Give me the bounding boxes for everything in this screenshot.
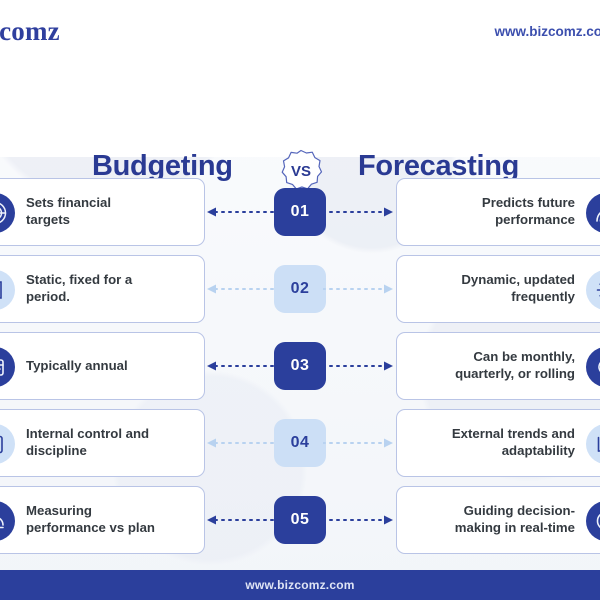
left-card-text: Internal control and discipline	[26, 426, 149, 460]
footer-website-url: www.bizcomz.com	[245, 578, 354, 592]
comparison-row: Typically annual 03 Can be monthly, quar…	[0, 332, 600, 400]
arrow-to-left	[207, 282, 277, 296]
comparison-row: Static, fixed for a period. 02 Dynamic, …	[0, 255, 600, 323]
left-card[interactable]: Static, fixed for a period.	[0, 255, 205, 323]
arrow-to-right	[323, 359, 393, 373]
right-card[interactable]: Predicts future performance	[396, 178, 600, 246]
step-number-badge: 03	[274, 342, 326, 390]
left-card-text: Measuring performance vs plan	[26, 503, 155, 537]
clipboard-lock-icon	[0, 424, 15, 464]
title-band: Budgeting VS Forecasting	[0, 62, 600, 157]
arrow-to-left	[207, 513, 277, 527]
arrow-to-left	[207, 205, 277, 219]
row-connector: 02	[205, 255, 396, 323]
top-bar: bizcomz www.bizcomz.com	[0, 0, 600, 62]
arrow-to-right	[323, 205, 393, 219]
document-lines-icon	[0, 270, 15, 310]
right-card-text: Can be monthly, quarterly, or rolling	[455, 349, 575, 383]
left-card-text: Static, fixed for a period.	[26, 272, 132, 306]
comparison-row: Sets financial targets 01 Predicts futur…	[0, 178, 600, 246]
arrow-to-left	[207, 359, 277, 373]
header-website-url: www.bizcomz.com	[494, 24, 600, 39]
comparison-row: Internal control and discipline 04 Exter…	[0, 409, 600, 477]
left-card[interactable]: Internal control and discipline	[0, 409, 205, 477]
arrow-to-left	[207, 436, 277, 450]
left-card-text: Sets financial targets	[26, 195, 111, 229]
row-connector: 04	[205, 409, 396, 477]
target-fingerprint-icon	[0, 193, 15, 233]
calendar-year-icon	[0, 347, 15, 387]
calendar-cycle-icon	[586, 347, 600, 387]
right-card[interactable]: Can be monthly, quarterly, or rolling	[396, 332, 600, 400]
right-card[interactable]: Guiding decision- making in real-time	[396, 486, 600, 554]
arrow-to-right	[323, 282, 393, 296]
arrow-to-right	[323, 436, 393, 450]
gear-refresh-icon	[586, 270, 600, 310]
right-card-text: Guiding decision- making in real-time	[455, 503, 575, 537]
comparison-row: Measuring performance vs plan 05 Guiding…	[0, 486, 600, 554]
left-card[interactable]: Sets financial targets	[0, 178, 205, 246]
right-card-text: Dynamic, updated frequently	[461, 272, 575, 306]
infographic-canvas: bizcomz www.bizcomz.com Budgeting VS For…	[0, 0, 600, 600]
arrow-to-right	[323, 513, 393, 527]
left-card[interactable]: Typically annual	[0, 332, 205, 400]
left-card-text: Typically annual	[26, 358, 128, 375]
right-card-text: External trends and adaptability	[452, 426, 575, 460]
right-card-text: Predicts future performance	[482, 195, 575, 229]
row-connector: 03	[205, 332, 396, 400]
left-card[interactable]: Measuring performance vs plan	[0, 486, 205, 554]
step-number-badge: 01	[274, 188, 326, 236]
right-card[interactable]: External trends and adaptability	[396, 409, 600, 477]
trend-chart-icon	[586, 424, 600, 464]
footer-bar: www.bizcomz.com	[0, 570, 600, 600]
row-connector: 01	[205, 178, 396, 246]
radar-forecast-icon	[586, 193, 600, 233]
step-number-badge: 04	[274, 419, 326, 467]
right-card[interactable]: Dynamic, updated frequently	[396, 255, 600, 323]
step-number-badge: 05	[274, 496, 326, 544]
brand-logo: bizcomz	[0, 16, 60, 47]
compass-guide-icon	[586, 501, 600, 541]
row-connector: 05	[205, 486, 396, 554]
gauge-measure-icon	[0, 501, 15, 541]
step-number-badge: 02	[274, 265, 326, 313]
